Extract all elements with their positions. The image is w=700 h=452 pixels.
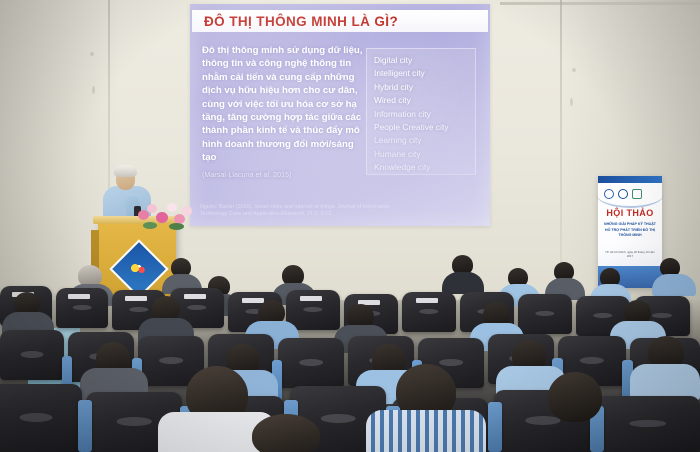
wall-mark-4	[570, 98, 573, 106]
banner-subtitle: NHỮNG GIẢI PHÁP KỸ THUẬT HỖ TRỢ PHÁT TRI…	[602, 222, 658, 239]
conference-photo: ĐÔ THỊ THÔNG MINH LÀ GÌ? Đô thị thông mi…	[0, 0, 700, 452]
flower	[147, 204, 157, 213]
slide-terms-list: Digital city Intelligent city Hybrid cit…	[374, 54, 448, 175]
auditorium-seat[interactable]	[278, 338, 344, 388]
list-item: Intelligent city	[374, 67, 448, 80]
seat-side-panel	[78, 400, 92, 452]
auditorium-seat-foreground[interactable]	[596, 396, 700, 452]
auditorium-seat-foreground[interactable]	[0, 384, 82, 452]
org-logo-icon	[632, 189, 642, 199]
banner-title: HỘI THẢO	[598, 208, 662, 218]
org-logo-icon	[618, 189, 628, 199]
wall-mark-1	[90, 52, 94, 56]
seat-number-tag	[242, 298, 264, 303]
list-item: Humane city	[374, 148, 448, 161]
list-item: Learning city	[374, 134, 448, 147]
seat-number-tag	[184, 294, 206, 299]
slide-title-bar: ĐÔ THỊ THÔNG MINH LÀ GÌ?	[192, 10, 488, 32]
speaker-hair	[114, 165, 137, 177]
list-item: Information city	[374, 108, 448, 121]
wall-ceiling-trim	[500, 2, 700, 5]
seat-side-panel	[488, 402, 502, 452]
slide-source-line-1: Nguồn: Bantin (2016). Smart cities and I…	[200, 204, 475, 211]
emblem-detail	[128, 260, 150, 278]
banner-date: TP. Hồ Chí Minh, ngày 20 tháng 10 năm 20…	[602, 250, 658, 258]
list-item: Knowledge city	[374, 161, 448, 174]
org-logo-icon	[604, 189, 614, 199]
flower	[182, 206, 192, 216]
wall-mark-3	[572, 68, 576, 72]
list-item: Hybrid city	[374, 81, 448, 94]
slide-body-text: Đô thị thông minh sử dụng dữ liệu, thông…	[202, 44, 364, 181]
slide-body-paragraph: Đô thị thông minh sử dụng dữ liệu, thông…	[202, 45, 362, 163]
wall-seam-right	[560, 0, 562, 300]
auditorium-seat[interactable]	[518, 294, 572, 334]
audience-shoulders	[652, 274, 696, 296]
flower-leaf	[143, 222, 157, 229]
seat-number-tag	[416, 298, 438, 303]
flower-arrangement	[136, 198, 194, 232]
audience-shoulders-foreground	[366, 410, 486, 452]
audience-head-foreground	[252, 414, 320, 452]
slide-source-note: Nguồn: Bantin (2016). Smart cities and I…	[200, 204, 475, 218]
audience-shoulders	[630, 364, 700, 400]
list-item: Wired city	[374, 94, 448, 107]
slide-terms-box: Digital city Intelligent city Hybrid cit…	[366, 48, 476, 175]
flower-leaf	[169, 223, 184, 230]
slide-title: ĐÔ THỊ THÔNG MINH LÀ GÌ?	[192, 14, 398, 29]
slide-body-citation: (Marsal-Llacuna et al. 2015)	[202, 168, 364, 181]
seat-number-tag	[300, 296, 322, 301]
audience-shoulders	[442, 272, 484, 294]
slide-source-line-2: Technology Case and Application Research…	[200, 211, 475, 218]
wall-mark-2	[92, 86, 95, 94]
audience-head-foreground	[548, 372, 602, 422]
flower	[167, 203, 177, 212]
projection-screen: ĐÔ THỊ THÔNG MINH LÀ GÌ? Đô thị thông mi…	[190, 4, 490, 226]
auditorium-seat[interactable]	[0, 330, 64, 380]
list-item: Digital city	[374, 54, 448, 67]
flower	[156, 212, 168, 223]
banner-logo-row	[604, 188, 656, 200]
seat-number-tag	[125, 296, 147, 301]
list-item: People Creative city	[374, 121, 448, 134]
seat-number-tag	[68, 294, 90, 299]
